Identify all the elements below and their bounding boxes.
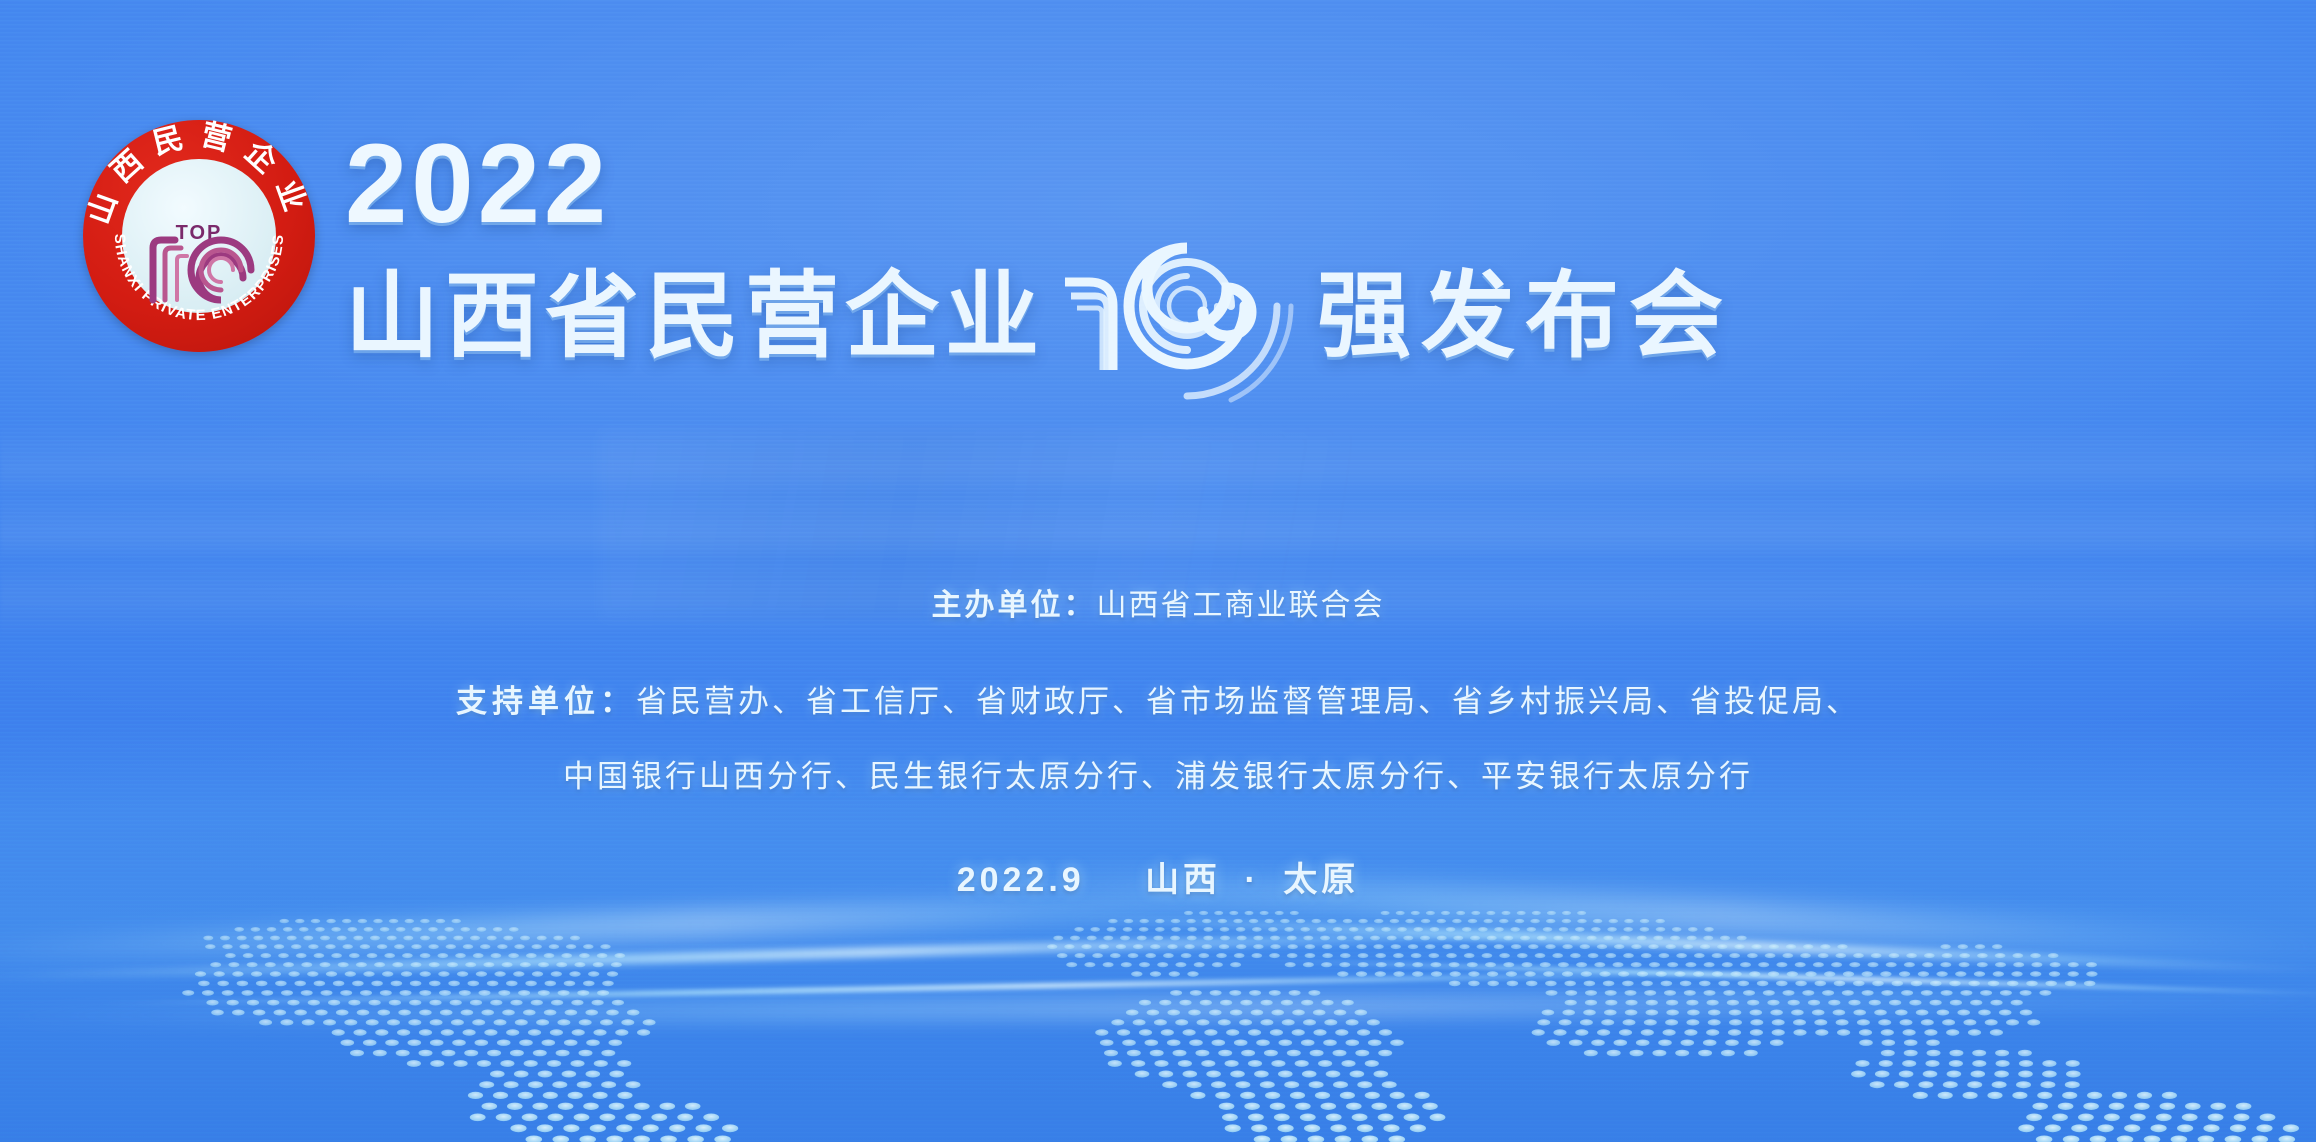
light-streak-5 [1050,913,2316,975]
emblem-100-mark [83,120,315,352]
light-streak-3 [80,968,1830,1007]
host-value: 山西省工商业联合会 [1097,589,1385,622]
light-streak-7 [0,991,2316,1025]
host-line: 主办单位：山西省工商业联合会 [0,580,2316,624]
hundred-swirl-logo [1055,242,1307,370]
headline-block: 2022 山西省民营企业 [345,128,2245,364]
event-title-left: 山西省民营企业 [345,268,1045,364]
support-line-1: 支持单位：省民营办、省工信厅、省财政厅、省市场监督管理局、省乡村振兴局、省投促局… [0,676,2316,721]
event-city: 太原 [1283,861,1359,899]
light-streak-6 [1250,957,2316,997]
event-date-location: 2022.9 山西 · 太原 [0,852,2316,901]
shanxi-top100-emblem: 山西民营企业 SHANXI PRIVATE ENTERPRISES TOP [83,120,315,352]
support-line-2: 中国银行山西分行、民生银行太原分行、浦发银行太原分行、平安银行太原分行 [0,751,2316,796]
event-date: 2022.9 [957,861,1085,899]
event-title-row: 山西省民营企业 [345,242,2245,364]
location-separator: · [1245,861,1260,899]
host-label: 主办单位： [932,589,1097,622]
event-year: 2022 [345,128,2245,240]
event-province: 山西 [1145,861,1221,899]
credits-block: 主办单位：山西省工商业联合会 支持单位：省民营办、省工信厅、省财政厅、省市场监督… [0,580,2316,901]
event-title-right: 强发布会 [1317,268,1733,364]
light-streak-2 [0,926,1640,982]
support-label: 支持单位： [456,684,636,719]
event-backdrop-stage: 山西民营企业 SHANXI PRIVATE ENTERPRISES TOP 20… [0,0,2316,1142]
support-value-1: 省民营办、省工信厅、省财政厅、省市场监督管理局、省乡村振兴局、省投促局、 [636,684,1860,719]
